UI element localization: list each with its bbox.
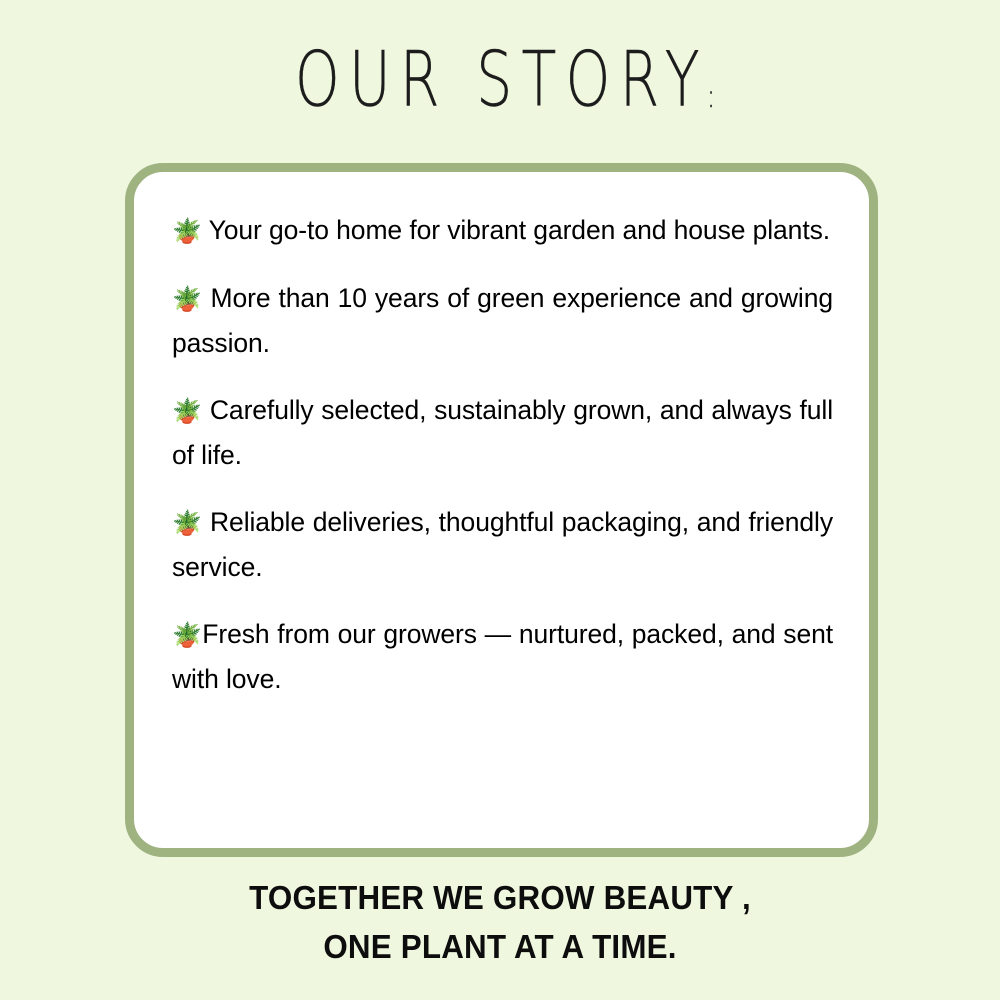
list-item: 🪴 Reliable deliveries, thoughtful packag… — [172, 500, 833, 589]
footer-tagline-line-2: ONE PLANT AT A TIME. — [25, 922, 975, 971]
list-item: 🪴 Carefully selected, sustainably grown,… — [172, 388, 833, 477]
page-title-text: OUR STORY — [294, 42, 708, 118]
potted-plant-icon: 🪴 — [172, 509, 202, 537]
list-item-spacer — [202, 395, 210, 425]
list-item-text: Fresh from our growers — nurtured, packe… — [172, 619, 833, 694]
list-item-spacer — [203, 283, 211, 313]
story-card: 🪴 Your go-to home for vibrant garden and… — [125, 163, 878, 857]
list-item-text: Reliable deliveries, thoughtful packagin… — [172, 507, 833, 582]
page-title-colon: : — [707, 81, 715, 113]
footer-tagline: TOGETHER WE GROW BEAUTY , ONE PLANT AT A… — [0, 873, 1000, 971]
list-item-spacer — [202, 507, 210, 537]
page-title: OUR STORY: — [285, 42, 714, 118]
potted-plant-icon: 🪴 — [172, 217, 202, 245]
list-item: 🪴 Your go-to home for vibrant garden and… — [172, 208, 833, 253]
list-item: 🪴 More than 10 years of green experience… — [172, 276, 833, 365]
potted-plant-icon: 🪴 — [172, 285, 203, 313]
story-list: 🪴 Your go-to home for vibrant garden and… — [172, 208, 833, 701]
list-item: 🪴Fresh from our growers — nurtured, pack… — [172, 612, 833, 701]
list-item-text: More than 10 years of green experience a… — [172, 283, 833, 358]
list-item-text: Your go-to home for vibrant garden and h… — [209, 215, 830, 245]
potted-plant-icon: 🪴 — [172, 397, 202, 425]
potted-plant-icon: 🪴 — [172, 621, 202, 649]
story-poster: { "page": { "background_color": "#eff7df… — [0, 0, 1000, 1000]
list-item-spacer — [202, 215, 209, 245]
list-item-text: Carefully selected, sustainably grown, a… — [172, 395, 833, 470]
page-header: OUR STORY: — [0, 0, 1000, 160]
footer-tagline-line-1: TOGETHER WE GROW BEAUTY , — [25, 873, 975, 922]
